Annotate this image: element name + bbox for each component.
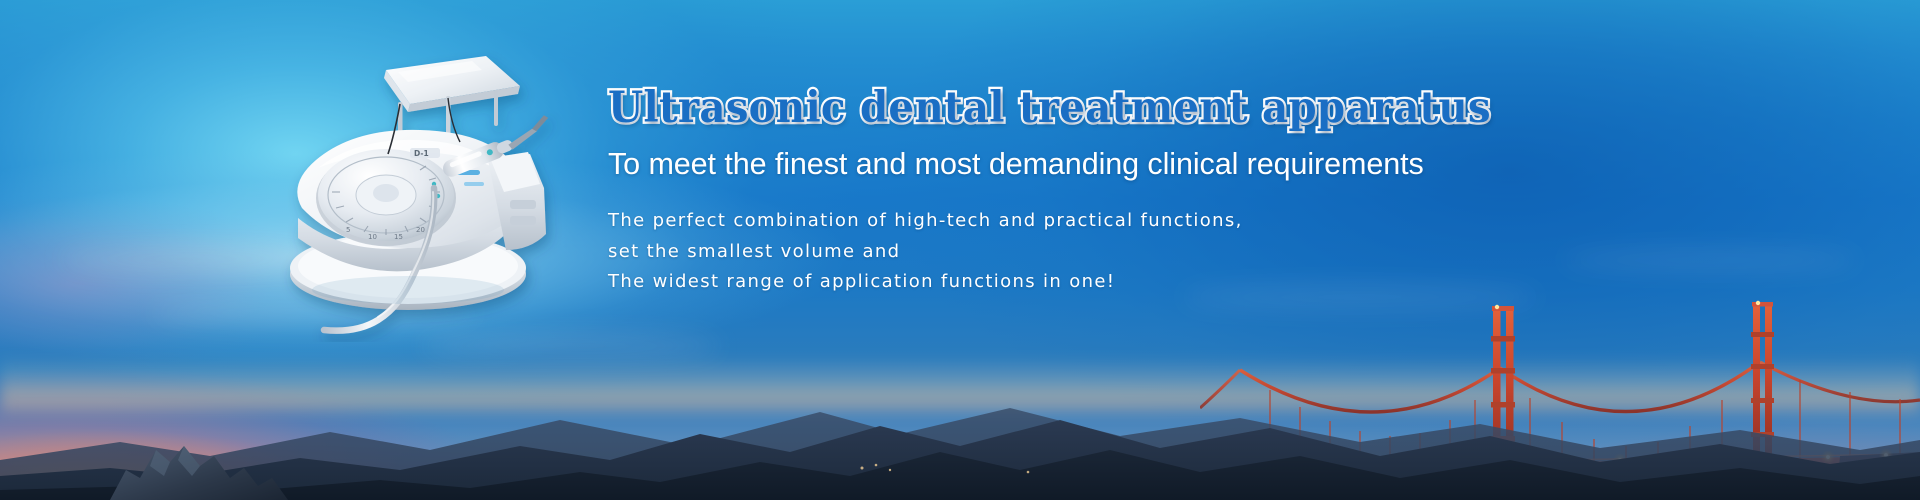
svg-text:5: 5 — [346, 226, 350, 234]
svg-text:D-1: D-1 — [414, 149, 429, 158]
description-line-3: The widest range of application function… — [608, 267, 1668, 298]
promo-banner: 5 10 15 20 D-1 — [0, 0, 1920, 500]
banner-copy-block: Ultrasonic dental treatment apparatus To… — [608, 86, 1668, 298]
banner-description: The perfect combination of high-tech and… — [608, 206, 1668, 299]
description-line-2: set the smallest volume and — [608, 237, 1668, 268]
page-title: Ultrasonic dental treatment apparatus — [608, 86, 1604, 132]
svg-text:20: 20 — [416, 226, 425, 234]
ultrasonic-dental-scaler-product-image: 5 10 15 20 D-1 — [258, 42, 588, 342]
svg-text:15: 15 — [394, 233, 403, 241]
svg-text:10: 10 — [368, 233, 377, 241]
banner-subtitle: To meet the finest and most demanding cl… — [608, 146, 1652, 182]
description-line-1: The perfect combination of high-tech and… — [608, 206, 1668, 237]
